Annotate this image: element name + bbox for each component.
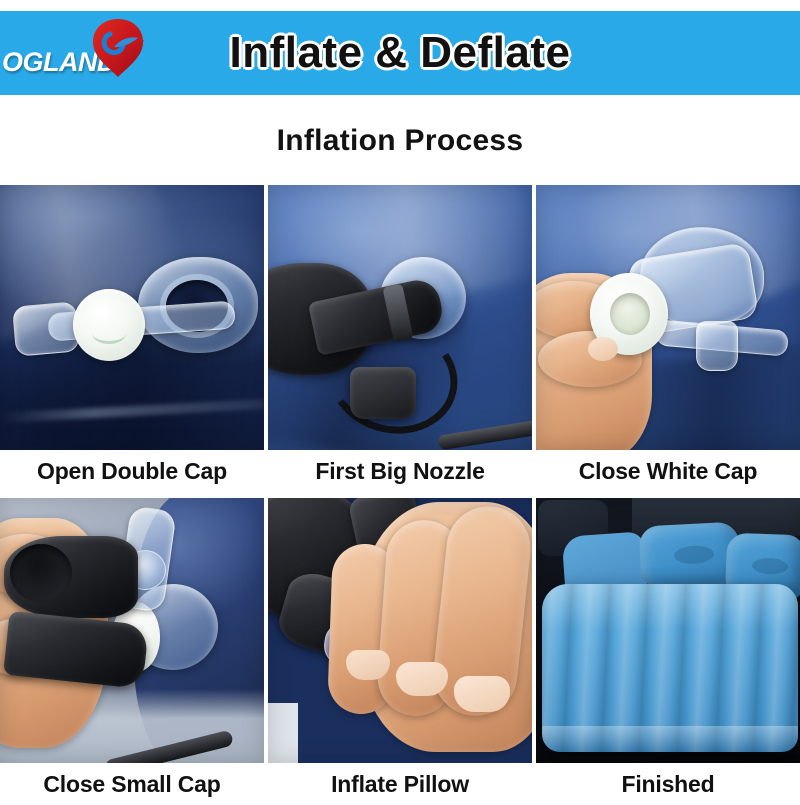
step-caption-2: First Big Nozzle — [268, 450, 532, 492]
section-subtitle: Inflation Process — [0, 124, 800, 158]
mattress-front-edge — [542, 726, 798, 752]
step-caption-4: Close Small Cap — [0, 763, 264, 805]
step-photo-close-small-cap — [0, 498, 264, 763]
valve-pull-tab — [12, 301, 80, 356]
small-clear-cap — [696, 321, 738, 371]
header-banner: OGLAND Inflate & Deflate — [0, 11, 800, 95]
scene-bright-edge — [268, 703, 298, 763]
white-cap-bore — [610, 293, 650, 335]
step-card-2: First Big Nozzle — [268, 185, 532, 492]
step-photo-close-white-cap — [536, 185, 800, 450]
spare-nozzle-cap — [350, 367, 416, 419]
step-card-6: Finished — [536, 498, 800, 805]
steps-row-1: Open Double Cap First Big Nozzl — [0, 185, 800, 492]
fingernail — [454, 676, 510, 712]
page-title: Inflate & Deflate — [0, 11, 800, 95]
steps-grid: Open Double Cap First Big Nozzl — [0, 185, 800, 805]
mattress-highlight — [542, 584, 798, 630]
step-card-3: Close White Cap — [536, 185, 800, 492]
fingernail — [588, 337, 618, 361]
inflatable-car-mattress — [542, 584, 798, 752]
step-caption-5: Inflate Pillow — [268, 763, 532, 805]
white-cap — [73, 289, 145, 361]
step-photo-first-big-nozzle — [268, 185, 532, 450]
steps-row-2: Close Small Cap — [0, 498, 800, 805]
step-caption-6: Finished — [536, 763, 800, 805]
product-infographic: OGLAND Inflate & Deflate Inflation Proce… — [0, 0, 800, 800]
step-photo-finished — [536, 498, 800, 763]
step-card-4: Close Small Cap — [0, 498, 264, 805]
fingernail — [346, 650, 390, 680]
step-photo-open-double-cap — [0, 185, 264, 450]
step-card-1: Open Double Cap — [0, 185, 264, 492]
fingernail — [396, 662, 448, 696]
nozzle-mouth — [10, 544, 72, 602]
step-photo-inflate-pillow — [268, 498, 532, 763]
step-card-5: Inflate Pillow — [268, 498, 532, 805]
step-caption-1: Open Double Cap — [0, 450, 264, 492]
step-caption-3: Close White Cap — [536, 450, 800, 492]
